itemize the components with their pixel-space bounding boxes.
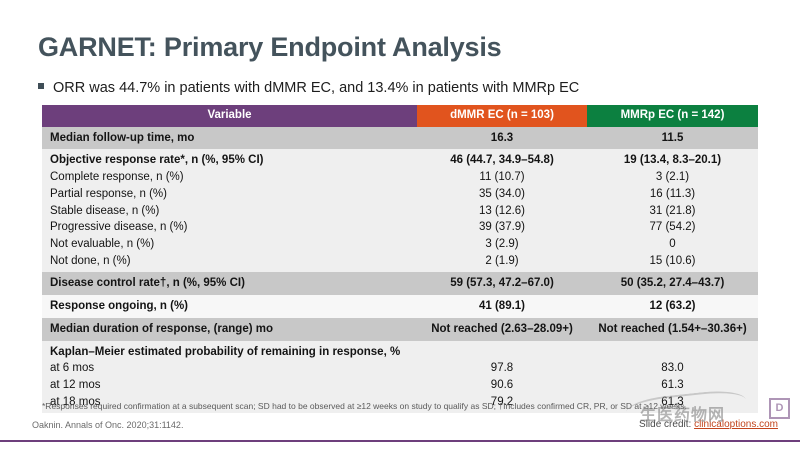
column-header-variable: Variable bbox=[42, 105, 417, 127]
table-row: Not done, n (%) 2 (1.9) 15 (10.6) bbox=[42, 253, 758, 273]
row-value-dmmr: 97.8 bbox=[417, 360, 587, 377]
row-value-mmrp: 3 (2.1) bbox=[587, 169, 758, 186]
row-label: Kaplan–Meier estimated probability of re… bbox=[42, 341, 417, 361]
table-row: Objective response rate*, n (%, 95% CI) … bbox=[42, 149, 758, 169]
row-label: Disease control rate†, n (%, 95% CI) bbox=[42, 272, 417, 295]
row-value-dmmr: 16.3 bbox=[417, 127, 587, 150]
row-label: at 6 mos bbox=[42, 360, 417, 377]
row-value-dmmr: 90.6 bbox=[417, 377, 587, 394]
results-table-container: Variable dMMR EC (n = 103) MMRp EC (n = … bbox=[42, 105, 758, 413]
row-value-mmrp: 11.5 bbox=[587, 127, 758, 150]
slide-credit: Slide credit: clinicaloptions.com bbox=[639, 419, 778, 430]
table-row: Complete response, n (%) 11 (10.7) 3 (2.… bbox=[42, 169, 758, 186]
row-value-mmrp bbox=[587, 341, 758, 361]
column-header-mmrp: MMRp EC (n = 142) bbox=[587, 105, 758, 127]
row-value-mmrp: 12 (63.2) bbox=[587, 295, 758, 318]
row-label: Median follow-up time, mo bbox=[42, 127, 417, 150]
row-label: Median duration of response, (range) mo bbox=[42, 318, 417, 341]
row-value-dmmr: 35 (34.0) bbox=[417, 186, 587, 203]
table-row: Median follow-up time, mo 16.3 11.5 bbox=[42, 127, 758, 150]
row-label: Objective response rate*, n (%, 95% CI) bbox=[42, 149, 417, 169]
table-row: Response ongoing, n (%) 41 (89.1) 12 (63… bbox=[42, 295, 758, 318]
table-row: Not evaluable, n (%) 3 (2.9) 0 bbox=[42, 236, 758, 253]
row-value-mmrp: 16 (11.3) bbox=[587, 186, 758, 203]
table-row: at 6 mos 97.8 83.0 bbox=[42, 360, 758, 377]
table-row: Progressive disease, n (%) 39 (37.9) 77 … bbox=[42, 219, 758, 236]
watermark-badge: D bbox=[769, 398, 790, 419]
row-value-dmmr: 13 (12.6) bbox=[417, 203, 587, 220]
table-header-row: Variable dMMR EC (n = 103) MMRp EC (n = … bbox=[42, 105, 758, 127]
table-row: Partial response, n (%) 35 (34.0) 16 (11… bbox=[42, 186, 758, 203]
row-value-mmrp: 19 (13.4, 8.3–20.1) bbox=[587, 149, 758, 169]
citation: Oaknin. Annals of Onc. 2020;31:1142. bbox=[32, 420, 183, 430]
row-label: Partial response, n (%) bbox=[42, 186, 417, 203]
row-value-dmmr: 3 (2.9) bbox=[417, 236, 587, 253]
bullet-marker-icon bbox=[38, 83, 44, 89]
row-label-text: Objective response rate*, n (%, 95% CI) bbox=[50, 154, 263, 166]
row-label: Complete response, n (%) bbox=[42, 169, 417, 186]
row-label: Not evaluable, n (%) bbox=[42, 236, 417, 253]
table-row: Kaplan–Meier estimated probability of re… bbox=[42, 341, 758, 361]
slide-canvas: GARNET: Primary Endpoint Analysis ORR wa… bbox=[0, 0, 800, 450]
row-value-mmrp: 83.0 bbox=[587, 360, 758, 377]
row-value-mmrp: 61.3 bbox=[587, 377, 758, 394]
row-label: Not done, n (%) bbox=[42, 253, 417, 273]
bottom-accent-rule bbox=[0, 440, 800, 442]
row-value-mmrp: 0 bbox=[587, 236, 758, 253]
table-row: Median duration of response, (range) mo … bbox=[42, 318, 758, 341]
row-value-mmrp: 50 (35.2, 27.4–43.7) bbox=[587, 272, 758, 295]
row-label: Stable disease, n (%) bbox=[42, 203, 417, 220]
row-label: Response ongoing, n (%) bbox=[42, 295, 417, 318]
row-value-mmrp: 77 (54.2) bbox=[587, 219, 758, 236]
row-value-dmmr: 41 (89.1) bbox=[417, 295, 587, 318]
slide-credit-prefix: Slide credit: bbox=[639, 419, 694, 430]
row-value-dmmr: 2 (1.9) bbox=[417, 253, 587, 273]
table-row: Stable disease, n (%) 13 (12.6) 31 (21.8… bbox=[42, 203, 758, 220]
slide-credit-link[interactable]: clinicaloptions.com bbox=[694, 419, 778, 430]
table-row: Disease control rate†, n (%, 95% CI) 59 … bbox=[42, 272, 758, 295]
row-value-dmmr: 59 (57.3, 47.2–67.0) bbox=[417, 272, 587, 295]
row-value-dmmr: 39 (37.9) bbox=[417, 219, 587, 236]
row-label: at 12 mos bbox=[42, 377, 417, 394]
column-header-dmmr: dMMR EC (n = 103) bbox=[417, 105, 587, 127]
results-table: Variable dMMR EC (n = 103) MMRp EC (n = … bbox=[42, 105, 758, 413]
table-row: at 12 mos 90.6 61.3 bbox=[42, 377, 758, 394]
row-value-dmmr bbox=[417, 341, 587, 361]
page-title: GARNET: Primary Endpoint Analysis bbox=[38, 32, 502, 63]
row-label: Progressive disease, n (%) bbox=[42, 219, 417, 236]
bullet-row: ORR was 44.7% in patients with dMMR EC, … bbox=[38, 80, 579, 96]
row-value-mmrp: 15 (10.6) bbox=[587, 253, 758, 273]
row-value-dmmr: 46 (44.7, 34.9–54.8) bbox=[417, 149, 587, 169]
row-value-mmrp: 31 (21.8) bbox=[587, 203, 758, 220]
row-value-dmmr: 11 (10.7) bbox=[417, 169, 587, 186]
bullet-text: ORR was 44.7% in patients with dMMR EC, … bbox=[53, 80, 579, 96]
row-value-dmmr: Not reached (2.63–28.09+) bbox=[417, 318, 587, 341]
row-value-mmrp: Not reached (1.54+–30.36+) bbox=[587, 318, 758, 341]
table-body: Median follow-up time, mo 16.3 11.5 Obje… bbox=[42, 127, 758, 414]
table-footnote: *Responses required confirmation at a su… bbox=[42, 401, 758, 412]
